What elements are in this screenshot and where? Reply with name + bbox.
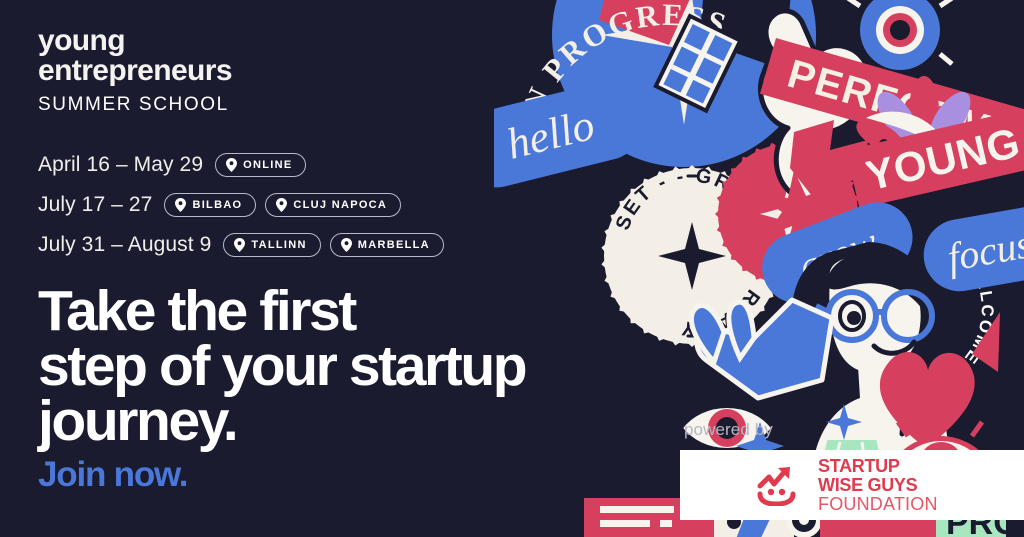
date-row: April 16 – May 29 ONLINE — [38, 148, 698, 182]
map-pin-icon — [341, 238, 352, 252]
headline-line-1: Take the first — [38, 284, 698, 339]
join-now-link[interactable]: Join now. — [38, 457, 698, 493]
brand-line-2: entrepreneurs — [38, 56, 698, 86]
headline-block: Take the first step of your startup jour… — [38, 284, 698, 493]
brand-subtitle: SUMMER SCHOOL — [38, 90, 698, 120]
location-label: BILBAO — [192, 199, 242, 211]
headline-line-3: journey. — [38, 394, 698, 449]
map-pin-icon — [175, 198, 186, 212]
promo-banner: IN PROGRESS hello SET - - GROW — [0, 0, 1024, 537]
date-range: April 16 – May 29 — [38, 153, 203, 177]
date-range: July 17 – 27 — [38, 193, 152, 217]
map-pin-icon — [234, 238, 245, 252]
location-pill-marbella[interactable]: MARBELLA — [330, 233, 444, 257]
map-pin-icon — [226, 158, 237, 172]
date-row: July 17 – 27 BILBAO CLUJ NAPOCA — [38, 188, 698, 222]
location-pill-tallinn[interactable]: TALLINN — [223, 233, 320, 257]
brand-line-1: young — [38, 26, 698, 56]
logo-line-2: WISE GUYS — [818, 476, 938, 494]
map-pin-icon — [276, 198, 287, 212]
logo-line-3: FOUNDATION — [818, 495, 938, 513]
powered-by-label: powered by — [684, 420, 773, 440]
content-column: young entrepreneurs SUMMER SCHOOL April … — [38, 26, 698, 493]
growth-arrow-icon — [756, 464, 808, 506]
location-label: CLUJ NAPOCA — [293, 199, 387, 211]
brand-logotype: young entrepreneurs SUMMER SCHOOL — [38, 26, 698, 120]
headline-line-2: step of your startup — [38, 339, 698, 394]
location-label: MARBELLA — [358, 239, 430, 251]
session-dates-list: April 16 – May 29 ONLINE July 17 – 27 — [38, 148, 698, 262]
location-pill-bilbao[interactable]: BILBAO — [164, 193, 256, 217]
location-label: ONLINE — [243, 159, 292, 171]
logo-wordmark: STARTUP WISE GUYS FOUNDATION — [818, 457, 938, 513]
date-range: July 31 – August 9 — [38, 233, 211, 257]
location-pill-cluj-napoca[interactable]: CLUJ NAPOCA — [265, 193, 401, 217]
date-row: July 31 – August 9 TALLINN MARBELLA — [38, 228, 698, 262]
location-label: TALLINN — [251, 239, 306, 251]
startup-wise-guys-logo[interactable]: STARTUP WISE GUYS FOUNDATION — [680, 450, 1024, 520]
logo-line-1: STARTUP — [818, 457, 938, 475]
location-pill-online[interactable]: ONLINE — [215, 153, 306, 177]
